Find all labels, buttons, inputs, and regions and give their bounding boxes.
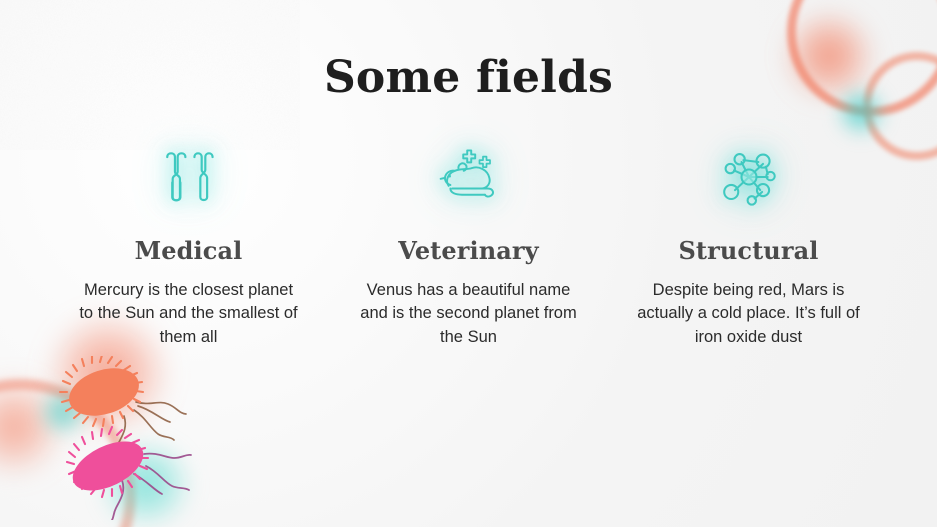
slide-title: Some fields — [0, 52, 937, 103]
teal-glow-decoration-bottom-1 — [40, 389, 86, 435]
column-body-structural: Despite being red, Mars is actually a co… — [636, 279, 861, 349]
column-heading-medical: Medical — [135, 236, 243, 265]
column-heading-veterinary: Veterinary — [398, 236, 538, 265]
column-body-veterinary: Venus has a beautiful name and is the se… — [356, 279, 581, 349]
column-medical: Medical Mercury is the closest planet to… — [58, 140, 319, 349]
column-veterinary: Veterinary Venus has a beautiful name an… — [338, 140, 599, 349]
coral-ring-arc-decoration — [0, 379, 136, 527]
chromosome-xy-icon — [160, 140, 218, 214]
molecule-structure-icon — [719, 140, 779, 214]
column-body-medical: Mercury is the closest planet to the Sun… — [76, 279, 301, 349]
pink-bacterium-illustration — [60, 424, 196, 525]
slide-canvas: Some fields Medical Mercury is the close… — [0, 0, 937, 527]
orange-bacterium-illustration — [58, 356, 190, 465]
column-heading-structural: Structural — [679, 236, 819, 265]
column-structural: Structural Despite being red, Mars is ac… — [618, 140, 879, 349]
coral-glow-decoration-bottom-2 — [0, 379, 62, 475]
teal-glow-decoration-bottom-2 — [98, 445, 194, 523]
feature-columns: Medical Mercury is the closest planet to… — [58, 140, 879, 349]
lab-mouse-medical-icon — [438, 140, 500, 214]
